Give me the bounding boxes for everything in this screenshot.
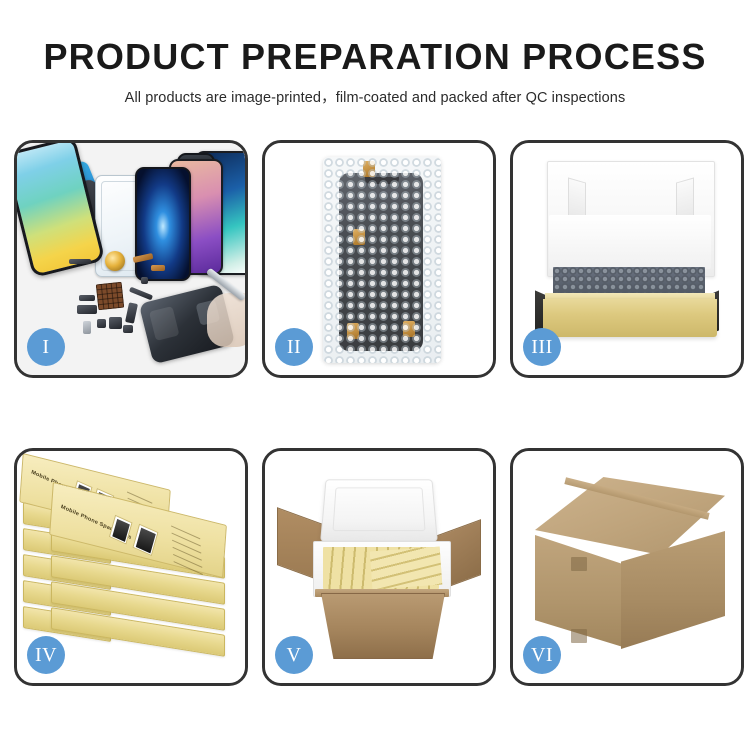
step-2-image: II <box>265 143 493 375</box>
spare-part-screw-graphic <box>97 319 106 328</box>
step-badge-4: IV <box>27 636 65 674</box>
bubble-wrap-package-graphic <box>323 157 441 363</box>
spare-part-speaker-graphic <box>109 317 122 329</box>
wrapped-flex-mid-graphic <box>353 229 365 245</box>
hand-graphic <box>207 293 245 347</box>
step-panel-1[interactable]: I <box>14 140 248 378</box>
spare-part-camera-graphic <box>123 325 133 333</box>
foam-lid-open-graphic <box>320 479 438 541</box>
step-panel-6[interactable]: VI <box>510 448 744 686</box>
spare-part-bar-graphic <box>69 259 91 264</box>
step-panel-4[interactable]: Mobile Phone Spare Parts Mobile Phone Sp… <box>14 448 248 686</box>
step-panel-2[interactable]: II <box>262 140 496 378</box>
step-panel-3[interactable]: III <box>510 140 744 378</box>
spare-part-bracket-graphic <box>77 305 97 314</box>
step-3-image: III <box>513 143 741 375</box>
step-6-image: VI <box>513 451 741 683</box>
spare-part-cable-graphic <box>129 287 153 301</box>
step-badge-2: II <box>275 328 313 366</box>
foam-sheet-graphic <box>549 215 711 269</box>
spare-part-strip-graphic <box>125 302 138 323</box>
spare-part-connector-graphic <box>79 295 95 301</box>
spare-part-flex2-graphic <box>151 265 165 271</box>
gold-coil-part-graphic <box>105 251 125 271</box>
box-spec-line <box>172 540 201 554</box>
box-spec-line <box>173 554 202 568</box>
wrapped-flex-top-graphic <box>363 161 375 177</box>
yellow-boxes-row2-graphic <box>370 547 442 590</box>
box-product-swatch <box>132 524 158 556</box>
phone-burst-screen-graphic <box>135 167 191 281</box>
step-badge-1: I <box>27 328 65 366</box>
wrapped-flex-bottomleft-graphic <box>347 323 359 339</box>
page-subtitle: All products are image-printed，film-coat… <box>0 86 750 107</box>
header: PRODUCT PREPARATION PROCESS All products… <box>0 38 750 107</box>
box-spec-line <box>171 525 200 539</box>
step-badge-3: III <box>523 328 561 366</box>
box-spec-line <box>172 533 201 547</box>
step-badge-5: V <box>275 636 313 674</box>
page-title: PRODUCT PREPARATION PROCESS <box>0 38 750 76</box>
carton-tab-lower-graphic <box>571 629 587 643</box>
box-spec-line <box>173 547 202 561</box>
carton-body-graphic <box>321 593 445 659</box>
wrapped-flex-bottomright-graphic <box>403 321 415 337</box>
product-preparation-infographic: PRODUCT PREPARATION PROCESS All products… <box>0 0 750 750</box>
logic-chip-part-graphic <box>96 282 125 311</box>
spare-part-dot-graphic <box>141 277 148 284</box>
process-steps-grid: I II <box>14 140 736 686</box>
yellow-box-front-graphic <box>543 299 717 337</box>
phone-front-large-graphic <box>17 143 105 278</box>
carton-tab-upper-graphic <box>571 557 587 571</box>
step-badge-6: VI <box>523 636 561 674</box>
step-5-image: V <box>265 451 493 683</box>
spare-part-button-graphic <box>83 321 91 334</box>
step-panel-5[interactable]: V <box>262 448 496 686</box>
step-1-image: I <box>17 143 245 375</box>
step-4-image: Mobile Phone Spare Parts Mobile Phone Sp… <box>17 451 245 683</box>
